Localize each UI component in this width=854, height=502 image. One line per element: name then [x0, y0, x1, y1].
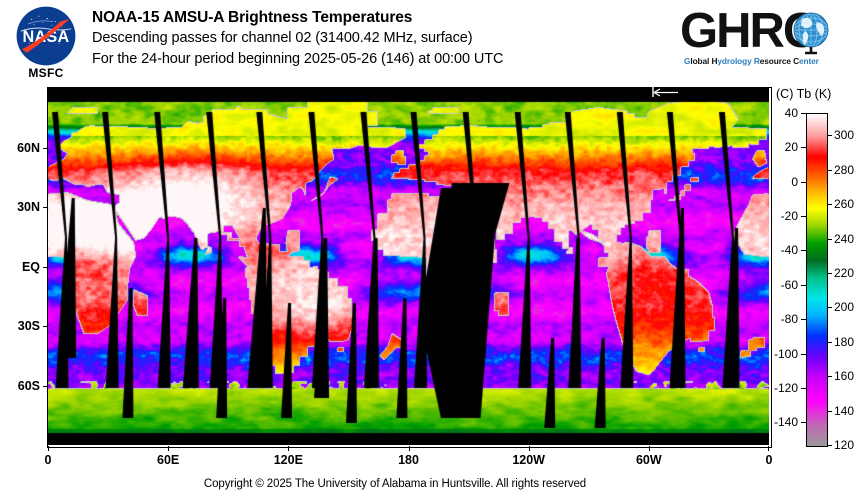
- colorbar-label-kelvin: 220: [834, 266, 854, 280]
- colorbar-tick-kelvin: [827, 170, 832, 171]
- colorbar-tick-kelvin: [827, 135, 832, 136]
- nasa-meatball-icon: NASA: [16, 6, 76, 66]
- colorbar-label-kelvin: 280: [834, 163, 854, 177]
- colorbar-tick-kelvin: [827, 204, 832, 205]
- x-axis-label: 120E: [274, 453, 303, 467]
- colorbar-tick-kelvin: [827, 411, 832, 412]
- colorbar-tick-celsius: [801, 422, 806, 423]
- copyright-notice: Copyright © 2025 The University of Alaba…: [0, 478, 790, 490]
- colorbar-label-celsius: -140: [760, 415, 798, 429]
- colorbar-label-kelvin: 120: [834, 438, 854, 452]
- colorbar: [806, 113, 828, 447]
- ghrc-logo: GHRC Global Hydrology Resource Center: [678, 6, 846, 78]
- y-axis-tick: [43, 386, 48, 387]
- x-axis-tick: [649, 446, 650, 451]
- colorbar-tick-kelvin: [827, 307, 832, 308]
- colorbar-label-celsius: 20: [760, 140, 798, 154]
- x-axis-label: 0: [766, 453, 773, 467]
- y-axis-label: 30S: [6, 319, 40, 333]
- ghrc-wordmark-icon: GHRC: [678, 4, 846, 60]
- colorbar-tick-kelvin: [827, 376, 832, 377]
- colorbar-label-kelvin: 160: [834, 369, 854, 383]
- colorbar-label-celsius: -60: [760, 278, 798, 292]
- colorbar-label-celsius: -120: [760, 381, 798, 395]
- x-axis-tick: [409, 446, 410, 451]
- y-axis-tick: [43, 326, 48, 327]
- colorbar-tick-kelvin: [827, 273, 832, 274]
- y-axis-label: 30N: [6, 200, 40, 214]
- x-axis-tick: [288, 446, 289, 451]
- y-axis-tick: [43, 148, 48, 149]
- brightness-temperature-map[interactable]: [48, 88, 769, 445]
- subtitle-period: For the 24-hour period beginning 2025-05…: [92, 49, 503, 70]
- title-block: NOAA-15 AMSU-A Brightness Temperatures D…: [92, 8, 503, 70]
- colorbar-tick-kelvin: [827, 445, 832, 446]
- colorbar-label-kelvin: 200: [834, 300, 854, 314]
- x-axis-label: 60E: [157, 453, 179, 467]
- y-axis-label: EQ: [6, 260, 40, 274]
- x-axis-tick: [768, 446, 769, 451]
- colorbar-tick-kelvin: [827, 342, 832, 343]
- y-axis-label: 60S: [6, 379, 40, 393]
- colorbar-tick-celsius: [801, 147, 806, 148]
- colorbar-label-celsius: -40: [760, 243, 798, 257]
- colorbar-label-celsius: -20: [760, 209, 798, 223]
- colorbar-tick-celsius: [801, 388, 806, 389]
- y-axis-tick: [43, 207, 48, 208]
- colorbar-tick-celsius: [801, 113, 806, 114]
- x-axis-tick: [48, 446, 49, 451]
- colorbar-label-kelvin: 300: [834, 128, 854, 142]
- colorbar-label-celsius: 40: [760, 106, 798, 120]
- x-axis-label: 0: [45, 453, 52, 467]
- colorbar-tick-celsius: [801, 216, 806, 217]
- colorbar-label-kelvin: 240: [834, 232, 854, 246]
- y-axis-tick: [43, 267, 48, 268]
- colorbar-tick-celsius: [801, 354, 806, 355]
- x-axis-tick: [168, 446, 169, 451]
- x-axis-tick: [529, 446, 530, 451]
- colorbar-tick-celsius: [801, 285, 806, 286]
- subtitle-channel: Descending passes for channel 02 (31400.…: [92, 28, 503, 49]
- colorbar-label-celsius: 0: [760, 175, 798, 189]
- colorbar-tick-celsius: [801, 319, 806, 320]
- nasa-center-label: MSFC: [10, 66, 82, 80]
- x-axis-label: 60W: [636, 453, 662, 467]
- left-arrow-icon: [648, 85, 680, 99]
- colorbar-label-celsius: -100: [760, 347, 798, 361]
- colorbar-tick-celsius: [801, 182, 806, 183]
- colorbar-gradient: [807, 114, 827, 446]
- y-axis-label: 60N: [6, 141, 40, 155]
- x-axis-label: 180: [398, 453, 419, 467]
- colorbar-label-kelvin: 260: [834, 197, 854, 211]
- x-axis-label: 120W: [512, 453, 545, 467]
- colorbar-label-celsius: -80: [760, 312, 798, 326]
- nasa-logo: NASA MSFC: [10, 6, 82, 84]
- colorbar-label-kelvin: 180: [834, 335, 854, 349]
- colorbar-label-kelvin: 140: [834, 404, 854, 418]
- page-title: NOAA-15 AMSU-A Brightness Temperatures: [92, 8, 503, 28]
- colorbar-header: (C) Tb (K): [776, 87, 854, 101]
- colorbar-tick-kelvin: [827, 239, 832, 240]
- map-raster: [48, 88, 769, 445]
- colorbar-tick-celsius: [801, 250, 806, 251]
- ghrc-tagline: Global Hydrology Resource Center: [684, 56, 844, 66]
